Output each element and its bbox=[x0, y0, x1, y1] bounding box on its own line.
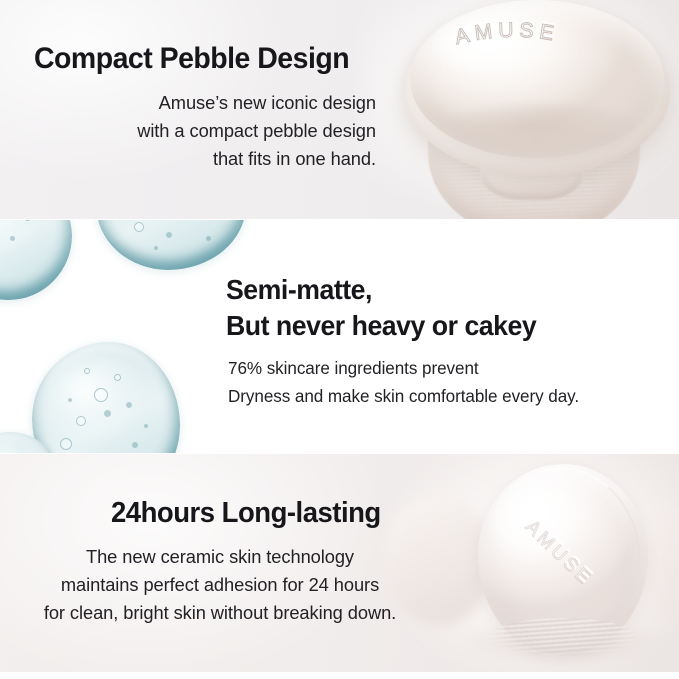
panel-3-body-text: The new ceramic skin technology maintain… bbox=[18, 543, 422, 627]
panel-2-headline: Semi-matte, But never heavy or cakey bbox=[226, 272, 536, 345]
panel-3-headline: 24hours Long-lasting bbox=[111, 498, 381, 528]
gel-droplet-main bbox=[32, 342, 180, 453]
compact-lid-lower-shadow bbox=[440, 104, 638, 156]
amuse-emboss-standing-shadow: AMUSE bbox=[518, 505, 599, 602]
svg-text:AMUSE: AMUSE bbox=[518, 505, 599, 602]
cushion-compact-lid-photo: AMUSE AMUSE bbox=[384, 0, 679, 219]
panel-2-body-text: 76% skincare ingredients prevent Dryness… bbox=[228, 355, 658, 410]
skincare-gel-droplets-photo bbox=[0, 220, 236, 453]
cushion-compact-standing-photo: AMUSE AMUSE bbox=[430, 454, 679, 672]
bottom-white-strip bbox=[0, 672, 679, 679]
panel-compact-pebble-design: AMUSE AMUSE Compact Pebble Design Amuse’… bbox=[0, 0, 679, 219]
panel-semi-matte: Semi-matte, But never heavy or cakey 76%… bbox=[0, 220, 679, 453]
panel-1-body-text: Amuse’s new iconic design with a compact… bbox=[60, 89, 376, 172]
panel-24hours-long-lasting: AMUSE AMUSE 24hours Long-lasting The new… bbox=[0, 454, 679, 672]
product-detail-image: AMUSE AMUSE Compact Pebble Design Amuse’… bbox=[0, 0, 679, 679]
gel-droplet-top-left bbox=[0, 220, 72, 300]
panel-1-headline: Compact Pebble Design bbox=[34, 43, 349, 74]
gel-droplet-top-middle bbox=[96, 220, 246, 270]
